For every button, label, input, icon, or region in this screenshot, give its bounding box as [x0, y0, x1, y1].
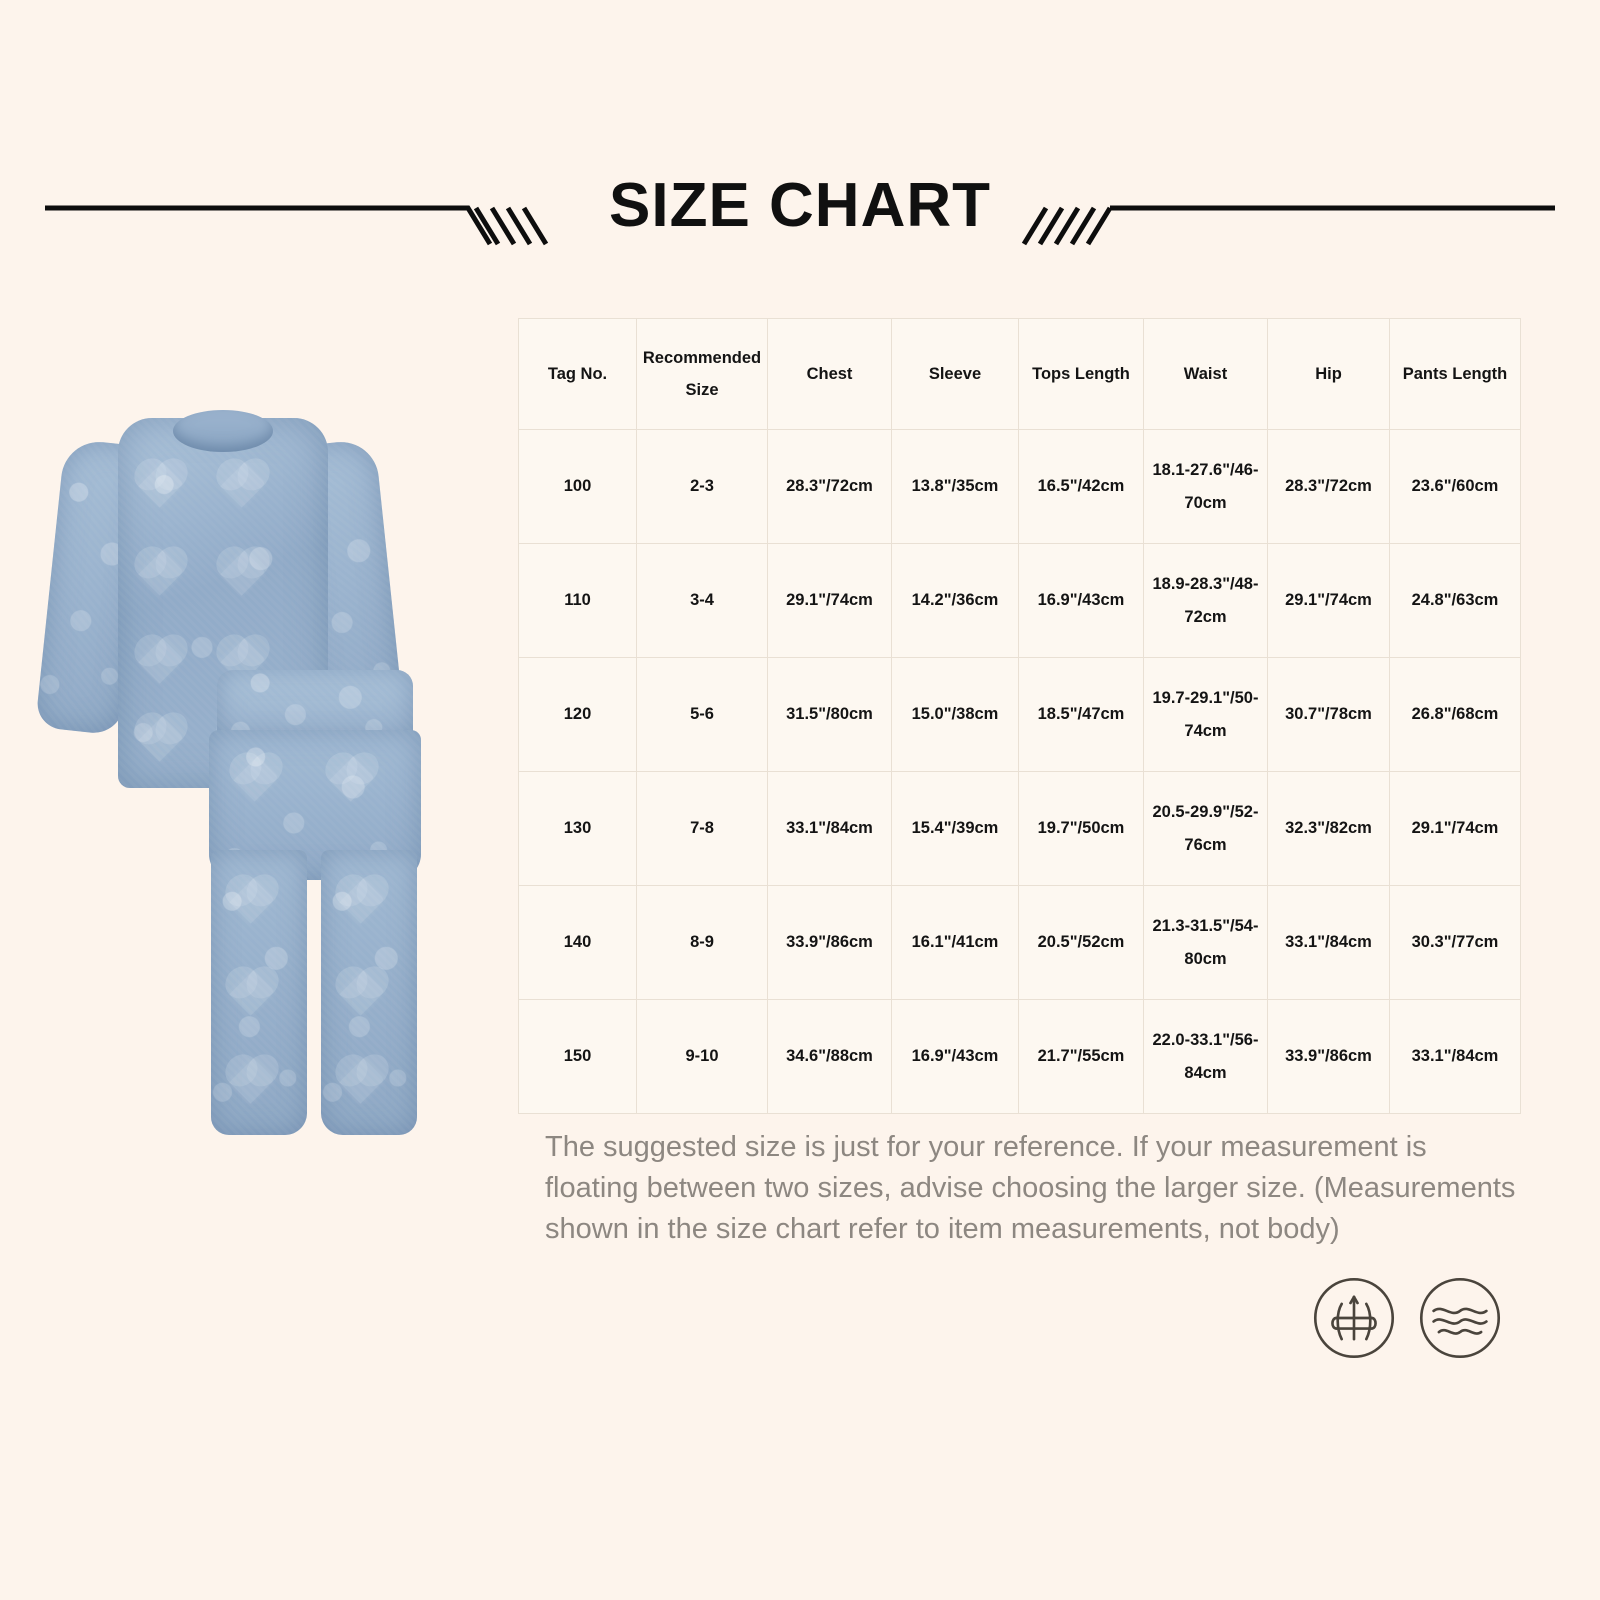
size-chart-note: The suggested size is just for your refe… [545, 1127, 1525, 1251]
fleece-pants-illustration [195, 670, 455, 1140]
cell-pants-length: 29.1"/74cm [1390, 772, 1521, 886]
page-title: SIZE CHART [0, 160, 1600, 252]
table-row: 110 3-4 29.1"/74cm 14.2"/36cm 16.9"/43cm… [519, 544, 1521, 658]
breathable-wave-icon [1416, 1274, 1504, 1362]
cell-waist: 19.7-29.1"/50-74cm [1144, 658, 1268, 772]
size-chart-table: Tag No. Recommended Size Chest Sleeve To… [518, 318, 1521, 1114]
cell-waist: 21.3-31.5"/54-80cm [1144, 886, 1268, 1000]
column-header-recommended-size: Recommended Size [637, 319, 768, 430]
table-row: 130 7-8 33.1"/84cm 15.4"/39cm 19.7"/50cm… [519, 772, 1521, 886]
cell-sleeve: 15.0"/38cm [892, 658, 1019, 772]
cell-recommended-size: 3-4 [637, 544, 768, 658]
cell-tops-length: 19.7"/50cm [1019, 772, 1144, 886]
cell-tag-no: 120 [519, 658, 637, 772]
cell-hip: 33.9"/86cm [1268, 1000, 1390, 1114]
cell-tops-length: 20.5"/52cm [1019, 886, 1144, 1000]
cell-hip: 33.1"/84cm [1268, 886, 1390, 1000]
cell-pants-length: 26.8"/68cm [1390, 658, 1521, 772]
cell-tag-no: 110 [519, 544, 637, 658]
table-row: 100 2-3 28.3"/72cm 13.8"/35cm 16.5"/42cm… [519, 430, 1521, 544]
cell-tops-length: 18.5"/47cm [1019, 658, 1144, 772]
cell-recommended-size: 7-8 [637, 772, 768, 886]
column-header-waist: Waist [1144, 319, 1268, 430]
cell-waist: 20.5-29.9"/52-76cm [1144, 772, 1268, 886]
cell-chest: 33.9"/86cm [768, 886, 892, 1000]
cell-tag-no: 130 [519, 772, 637, 886]
cell-sleeve: 14.2"/36cm [892, 544, 1019, 658]
cell-tops-length: 16.5"/42cm [1019, 430, 1144, 544]
cell-hip: 28.3"/72cm [1268, 430, 1390, 544]
cell-hip: 32.3"/82cm [1268, 772, 1390, 886]
cell-waist: 18.9-28.3"/48-72cm [1144, 544, 1268, 658]
cell-tops-length: 21.7"/55cm [1019, 1000, 1144, 1114]
column-header-tops-length: Tops Length [1019, 319, 1144, 430]
cell-sleeve: 16.1"/41cm [892, 886, 1019, 1000]
cell-recommended-size: 2-3 [637, 430, 768, 544]
column-header-tag-no: Tag No. [519, 319, 637, 430]
cell-sleeve: 16.9"/43cm [892, 1000, 1019, 1114]
cell-chest: 29.1"/74cm [768, 544, 892, 658]
pants-right-leg [321, 850, 417, 1135]
cell-sleeve: 15.4"/39cm [892, 772, 1019, 886]
pants-left-leg [211, 850, 307, 1135]
cell-chest: 34.6"/88cm [768, 1000, 892, 1114]
column-header-chest: Chest [768, 319, 892, 430]
cell-tag-no: 140 [519, 886, 637, 1000]
cell-pants-length: 33.1"/84cm [1390, 1000, 1521, 1114]
table-row: 120 5-6 31.5"/80cm 15.0"/38cm 18.5"/47cm… [519, 658, 1521, 772]
product-image [10, 380, 500, 1170]
column-header-pants-length: Pants Length [1390, 319, 1521, 430]
cell-pants-length: 24.8"/63cm [1390, 544, 1521, 658]
fabric-softness-icon [1310, 1274, 1398, 1362]
cell-waist: 22.0-33.1"/56-84cm [1144, 1000, 1268, 1114]
cell-recommended-size: 5-6 [637, 658, 768, 772]
fleece-texture [321, 850, 417, 1135]
cell-tag-no: 100 [519, 430, 637, 544]
cell-pants-length: 30.3"/77cm [1390, 886, 1521, 1000]
cell-chest: 31.5"/80cm [768, 658, 892, 772]
cell-sleeve: 13.8"/35cm [892, 430, 1019, 544]
care-icon-group [1310, 1268, 1510, 1368]
table-header-row: Tag No. Recommended Size Chest Sleeve To… [519, 319, 1521, 430]
cell-waist: 18.1-27.6"/46-70cm [1144, 430, 1268, 544]
cell-hip: 30.7"/78cm [1268, 658, 1390, 772]
fleece-texture [211, 850, 307, 1135]
cell-recommended-size: 9-10 [637, 1000, 768, 1114]
cell-chest: 28.3"/72cm [768, 430, 892, 544]
cell-hip: 29.1"/74cm [1268, 544, 1390, 658]
column-header-hip: Hip [1268, 319, 1390, 430]
cell-chest: 33.1"/84cm [768, 772, 892, 886]
cell-tag-no: 150 [519, 1000, 637, 1114]
cell-pants-length: 23.6"/60cm [1390, 430, 1521, 544]
table-row: 140 8-9 33.9"/86cm 16.1"/41cm 20.5"/52cm… [519, 886, 1521, 1000]
table-row: 150 9-10 34.6"/88cm 16.9"/43cm 21.7"/55c… [519, 1000, 1521, 1114]
cell-recommended-size: 8-9 [637, 886, 768, 1000]
column-header-sleeve: Sleeve [892, 319, 1019, 430]
cell-tops-length: 16.9"/43cm [1019, 544, 1144, 658]
sweater-neckline [173, 410, 273, 452]
